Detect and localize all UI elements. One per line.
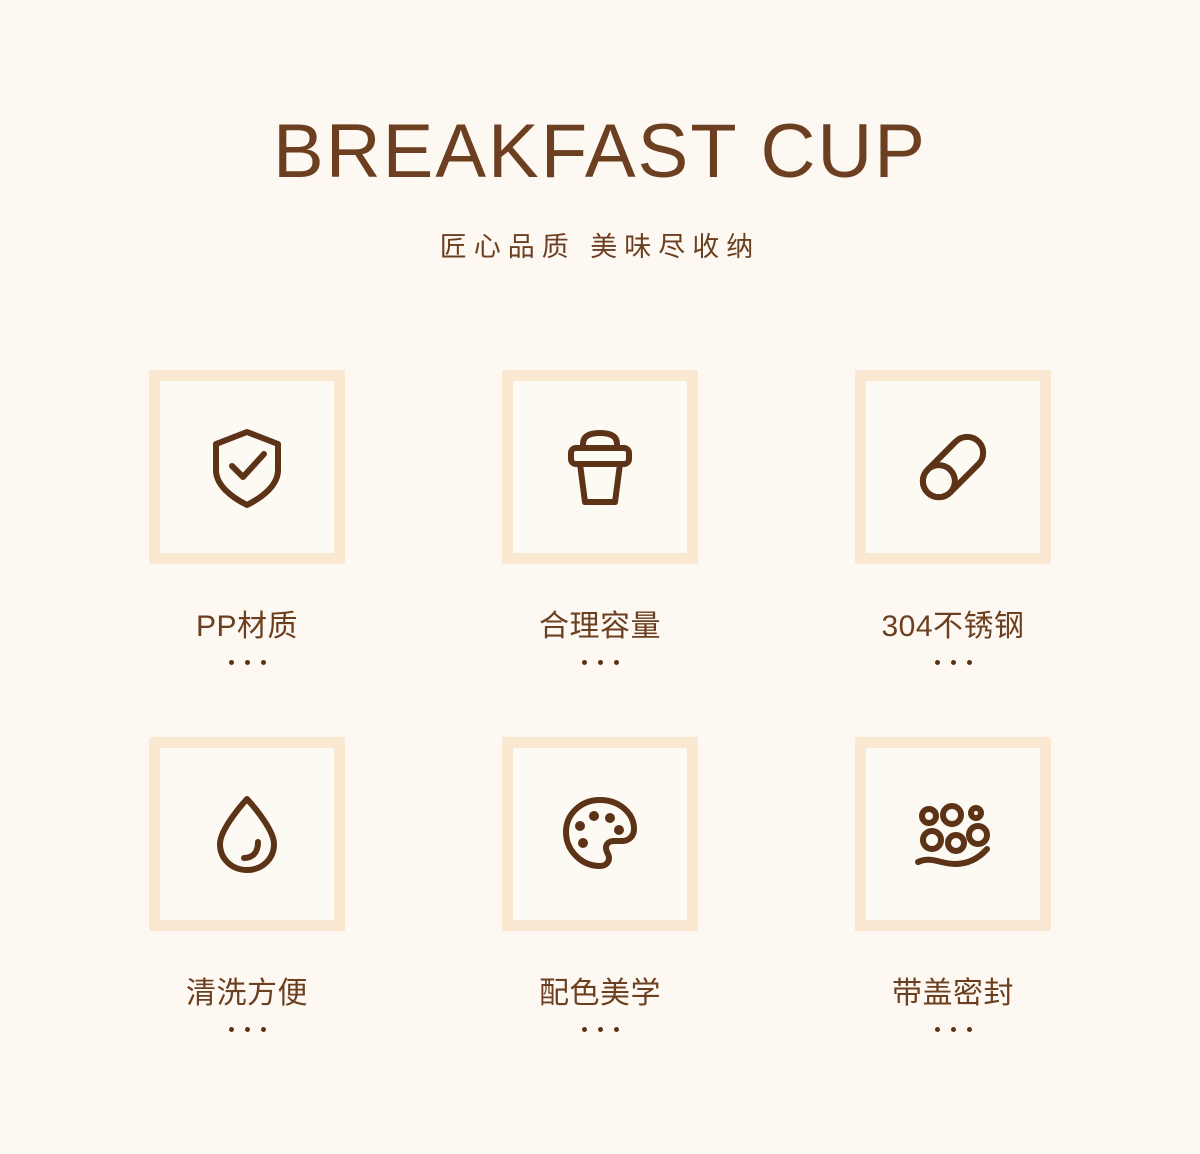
paint-palette-icon (554, 788, 646, 880)
ellipsis-dots (582, 1027, 619, 1032)
ellipsis-dots (229, 1027, 266, 1032)
feature-item-capacity[interactable]: 合理容量 (502, 370, 698, 665)
dot (582, 1027, 587, 1032)
feature-item-pp-material[interactable]: PP材质 (149, 370, 345, 665)
dot (261, 1027, 266, 1032)
feature-row-1: PP材质 合理容量 (0, 370, 1200, 665)
coffee-cup-icon (554, 421, 646, 513)
dot (229, 1027, 234, 1032)
water-droplet-icon (201, 788, 293, 880)
page-header: BREAKFAST CUP 匠心品质 美味尽收纳 (0, 0, 1200, 264)
feature-grid: PP材质 合理容量 (0, 370, 1200, 1032)
dot (967, 1027, 972, 1032)
dot (951, 660, 956, 665)
dot (261, 660, 266, 665)
dot (598, 1027, 603, 1032)
dot (582, 660, 587, 665)
dot (614, 1027, 619, 1032)
page-subtitle: 匠心品质 美味尽收纳 (0, 192, 1200, 264)
dot (935, 1027, 940, 1032)
feature-item-stainless-steel[interactable]: 304不锈钢 (855, 370, 1051, 665)
feature-item-lid-seal[interactable]: 带盖密封 (855, 737, 1051, 1032)
icon-frame (855, 370, 1051, 564)
feature-item-easy-clean[interactable]: 清洗方便 (149, 737, 345, 1032)
icon-frame (502, 737, 698, 931)
feature-label: 合理容量 (539, 610, 661, 644)
ellipsis-dots (229, 660, 266, 665)
steel-cylinder-icon (907, 421, 999, 513)
dot (951, 1027, 956, 1032)
icon-frame (149, 370, 345, 564)
dot (245, 1027, 250, 1032)
dot (598, 660, 603, 665)
sealed-bubbles-icon (907, 788, 999, 880)
dot (229, 660, 234, 665)
feature-label: 带盖密封 (892, 977, 1014, 1011)
feature-item-color-aesthetics[interactable]: 配色美学 (502, 737, 698, 1032)
icon-frame (149, 737, 345, 931)
feature-label: 304不锈钢 (881, 610, 1024, 644)
ellipsis-dots (935, 660, 972, 665)
feature-row-2: 清洗方便 (0, 737, 1200, 1032)
icon-frame (502, 370, 698, 564)
dot (935, 660, 940, 665)
shield-check-icon (201, 421, 293, 513)
feature-label: 清洗方便 (186, 977, 308, 1011)
dot (614, 660, 619, 665)
ellipsis-dots (582, 660, 619, 665)
dot (967, 660, 972, 665)
dot (245, 660, 250, 665)
page-title: BREAKFAST CUP (0, 112, 1200, 192)
product-feature-page: BREAKFAST CUP 匠心品质 美味尽收纳 PP材质 (0, 0, 1200, 1154)
ellipsis-dots (935, 1027, 972, 1032)
feature-label: 配色美学 (539, 977, 661, 1011)
icon-frame (855, 737, 1051, 931)
feature-label: PP材质 (196, 610, 298, 644)
